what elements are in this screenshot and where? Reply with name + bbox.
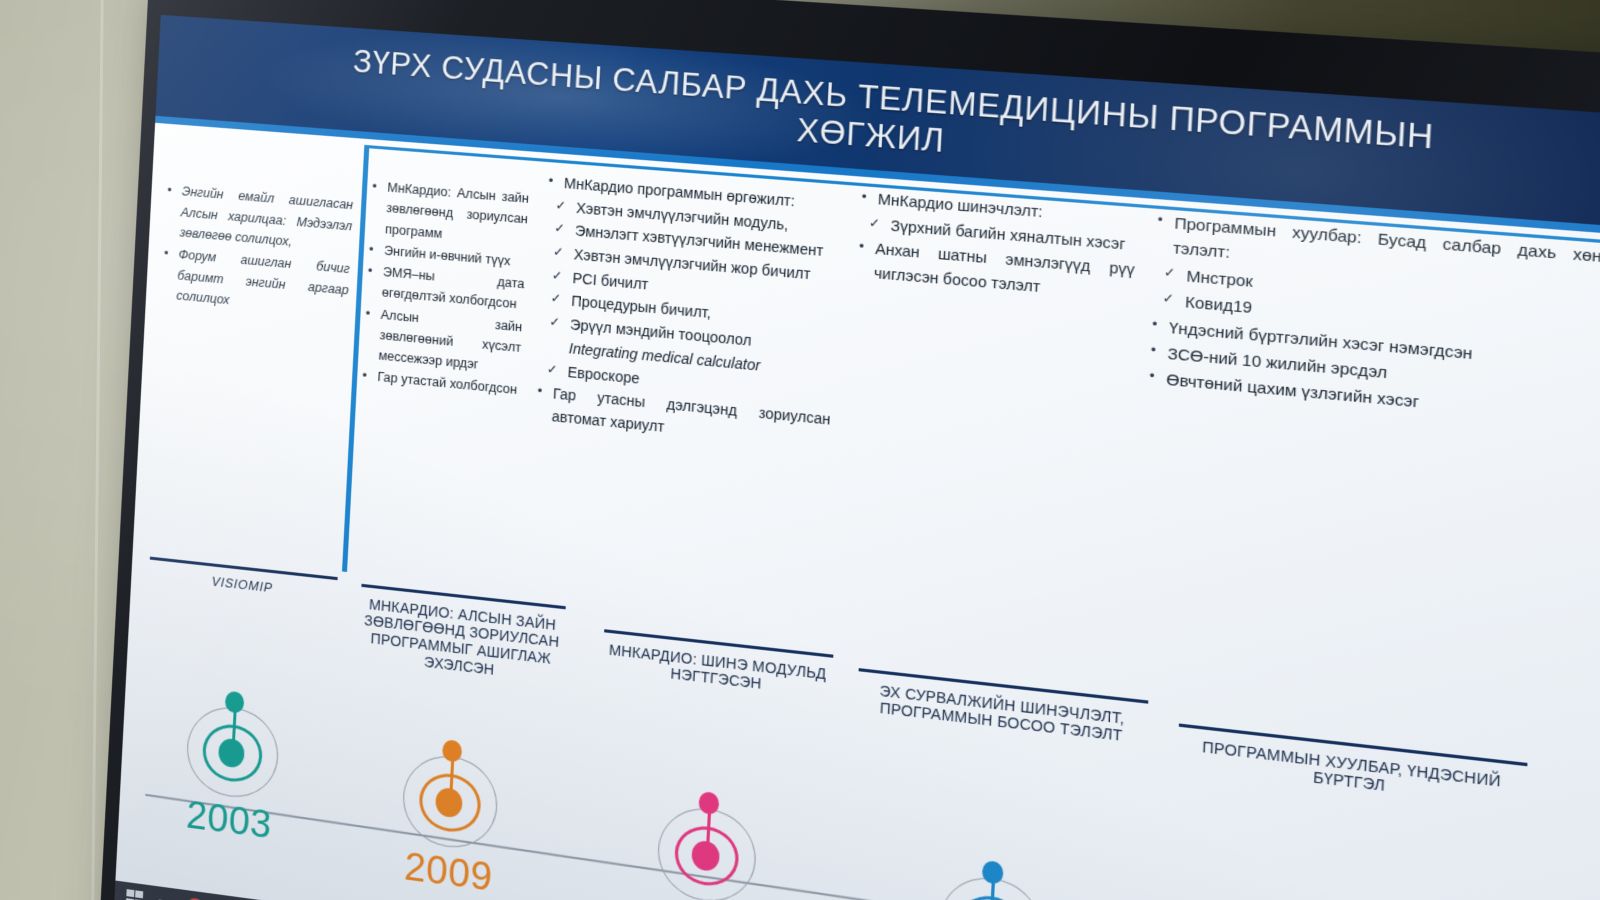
search-icon[interactable]: ⌕	[156, 893, 174, 900]
bullet-list-2: МнКардио: Алсын зайн зөвлөгөөнд зориулса…	[360, 176, 530, 401]
content-column-4: МнКардио шинэчлэлт: Зүрхний багийн хянал…	[828, 186, 1147, 660]
content-column-2: МнКардио: Алсын зайн зөвлөгөөнд зориулса…	[342, 149, 539, 595]
bullet-list-3: МнКардио программын өргөжилт: Хэвтэн эмч…	[534, 171, 843, 454]
start-icon[interactable]	[126, 889, 143, 900]
milestone-year: 2003	[130, 787, 330, 856]
content-column-5: Программын хуулбар: Бусад салбар дахь хө…	[1123, 209, 1600, 716]
milestone-label: МНКАРДИО: ШИНЭ МОДУЛЬД НЭГТГЭСЭН	[602, 640, 833, 701]
milestone-label: ЭХ СУРВАЛЖИЙН ШИНЭЧЛЭЛТ, ПРОГРАММЫН БОСО…	[856, 679, 1147, 748]
list-item: МнКардио: Алсын зайн зөвлөгөөнд зориулса…	[368, 176, 530, 251]
bullet-list-5: Программын хуулбар: Бусад салбар дахь хө…	[1146, 210, 1600, 435]
room-scene: ‹ ЗҮРХ СУДАСНЫ САЛБАР ДАХЬ ТЕЛЕМЕДИЦИНЫ …	[0, 0, 1600, 900]
display-screen: ЗҮРХ СУДАСНЫ САЛБАР ДАХЬ ТЕЛЕМЕДИЦИНЫ ПР…	[114, 15, 1600, 900]
bullet-list-1: Энгийн емайл ашигласан Алсын харилцаа: М…	[159, 180, 353, 322]
milestone-label: МНКАРДИО: АЛСЫН ЗАЙН ЗӨВЛӨГӨӨНД ЗОРИУЛСА…	[357, 595, 565, 688]
display-perspective-wrapper: ‹ ЗҮРХ СУДАСНЫ САЛБАР ДАХЬ ТЕЛЕМЕДИЦИНЫ …	[0, 0, 1600, 900]
milestone-marker	[401, 735, 500, 853]
milestone-label: VISIOMIP	[149, 567, 337, 603]
content-column-1: Энгийн емайл ашигласан Алсын харилцаа: М…	[138, 133, 364, 575]
milestone-marker	[937, 855, 1044, 900]
milestone-marker	[656, 786, 759, 900]
milestone-year: 2009	[346, 838, 552, 900]
milestone-label: ПРОГРАММЫН ХУУЛБАР, ҮНДЭСНИЙ БҮРТГЭЛ	[1176, 735, 1526, 812]
bullet-list-4: МнКардио шинэчлэлт: Зүрхний багийн хянал…	[855, 187, 1138, 308]
wall-display: ‹ ЗҮРХ СУДАСНЫ САЛБАР ДАХЬ ТЕЛЕМЕДИЦИНЫ …	[97, 0, 1600, 900]
content-column-3: МнКардио программын өргөжилт: Хэвтэн эмч…	[517, 162, 852, 628]
milestone-marker	[185, 686, 281, 802]
presentation-slide: ЗҮРХ СУДАСНЫ САЛБАР ДАХЬ ТЕЛЕМЕДИЦИНЫ ПР…	[114, 15, 1600, 900]
